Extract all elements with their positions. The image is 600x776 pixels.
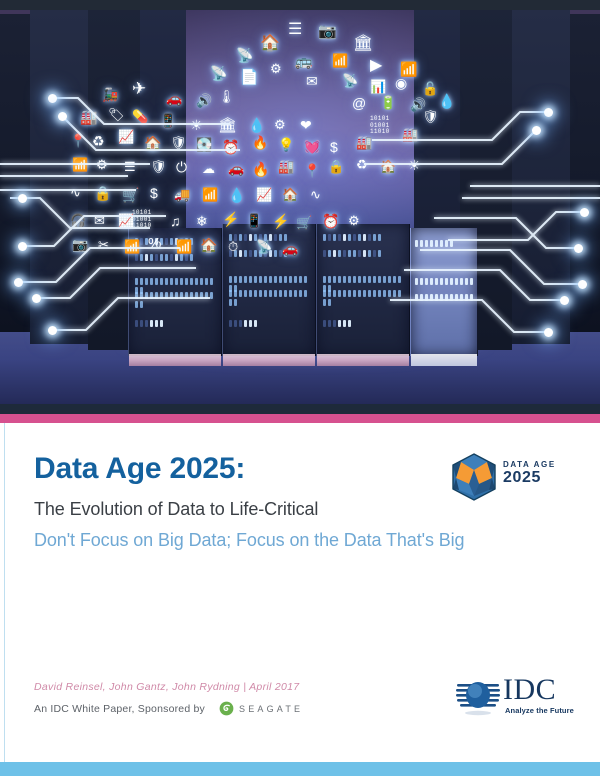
data-age-logo-line2: 2025 bbox=[503, 469, 556, 486]
sponsor-row: An IDC White Paper, Sponsored by SEAGATE bbox=[34, 701, 303, 716]
circuit-node bbox=[48, 326, 57, 335]
left-accent-rule bbox=[4, 423, 5, 762]
circuit-traces bbox=[0, 0, 600, 404]
hero-image: ☰ 📷 🏠 🏛 📡 🚌 📶 ⚙ ▶ 📶 📄 📡 ✉ 📡 📊 ◉ 🔓 🔊 💧 @ … bbox=[0, 0, 600, 404]
idc-logo: IDC Analyze the Future bbox=[455, 676, 575, 720]
page-title: Data Age 2025: bbox=[34, 452, 434, 485]
seagate-wordmark: SEAGATE bbox=[239, 704, 303, 714]
circuit-node bbox=[544, 328, 553, 337]
top-dark-band bbox=[0, 0, 600, 10]
authors-line: David Reinsel, John Gantz, John Rydning … bbox=[34, 680, 303, 695]
circuit-node bbox=[578, 280, 587, 289]
idc-tagline: Analyze the Future bbox=[505, 706, 574, 715]
title-block: Data Age 2025: The Evolution of Data to … bbox=[34, 452, 434, 551]
sponsor-prefix: An IDC White Paper, Sponsored by bbox=[34, 703, 205, 715]
credits-block: David Reinsel, John Gantz, John Rydning … bbox=[34, 680, 303, 716]
white-paper-cover: ☰ 📷 🏠 🏛 📡 🚌 📶 ⚙ ▶ 📶 📄 📡 ✉ 📡 📊 ◉ 🔓 🔊 💧 @ … bbox=[0, 0, 600, 776]
circuit-node bbox=[18, 194, 27, 203]
seagate-spiral-icon bbox=[219, 701, 234, 716]
circuit-node bbox=[580, 208, 589, 217]
subtitle-primary: The Evolution of Data to Life-Critical bbox=[34, 499, 434, 521]
divider-pink-band bbox=[0, 414, 600, 423]
circuit-node bbox=[18, 242, 27, 251]
circuit-node bbox=[58, 112, 67, 121]
circuit-node bbox=[544, 108, 553, 117]
circuit-node bbox=[14, 278, 23, 287]
circuit-node bbox=[48, 94, 57, 103]
idc-globe-icon bbox=[455, 676, 501, 718]
seagate-logo: SEAGATE bbox=[219, 701, 303, 716]
divider-dark-band bbox=[0, 404, 600, 414]
data-age-logo-text: DATA AGE 2025 bbox=[503, 460, 556, 486]
bottom-blue-bar bbox=[0, 762, 600, 776]
circuit-node bbox=[574, 244, 583, 253]
idc-wordmark: IDC bbox=[503, 674, 556, 706]
icosahedron-icon bbox=[447, 452, 501, 502]
circuit-node bbox=[560, 296, 569, 305]
subtitle-secondary: Don't Focus on Big Data; Focus on the Da… bbox=[34, 530, 434, 552]
data-age-logo-line1: DATA AGE bbox=[503, 460, 556, 469]
circuit-node bbox=[532, 126, 541, 135]
data-age-2025-logo: DATA AGE 2025 bbox=[447, 452, 557, 502]
circuit-node bbox=[32, 294, 41, 303]
